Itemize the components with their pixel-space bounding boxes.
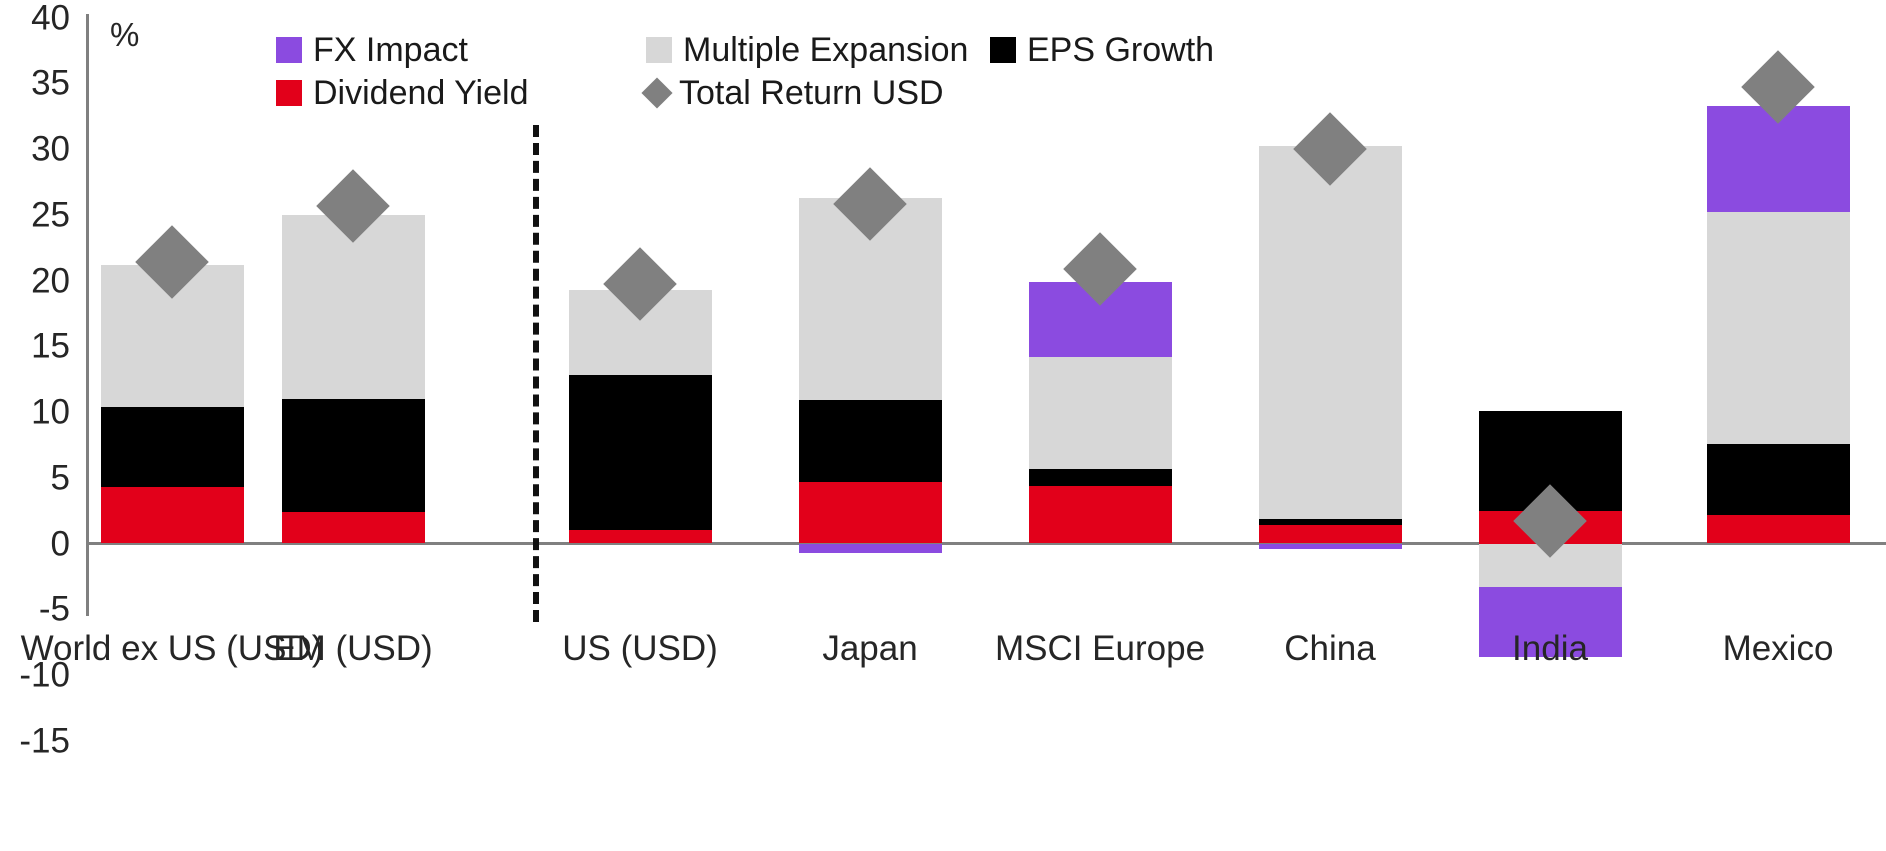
bar-segment-dividend-yield xyxy=(1029,486,1172,544)
bar-group-china[interactable]: China xyxy=(1259,0,1402,851)
bar-group-japan[interactable]: Japan xyxy=(799,0,942,851)
bar-segment-fx-impact xyxy=(799,544,942,553)
bar-segment-eps-growth xyxy=(1707,444,1850,515)
bar-group-mexico[interactable]: Mexico xyxy=(1707,0,1850,851)
x-axis-category-label: EM (USD) xyxy=(193,628,513,669)
x-axis-category-label: Mexico xyxy=(1618,628,1886,669)
bar-segment-eps-growth xyxy=(1029,469,1172,486)
stacked-bar-chart: 4035302520151050-5-10-15 % FX ImpactMult… xyxy=(0,0,1886,851)
bar-group-world-ex-us-usd[interactable]: World ex US (USD) xyxy=(101,0,244,851)
bar-segment-multiple-expansion xyxy=(1707,212,1850,443)
bar-group-india[interactable]: India xyxy=(1479,0,1622,851)
bar-segment-eps-growth xyxy=(101,407,244,487)
bar-segment-fx-impact xyxy=(1259,544,1402,549)
bar-segment-multiple-expansion xyxy=(1259,146,1402,518)
bar-group-msci-europe[interactable]: MSCI Europe xyxy=(1029,0,1172,851)
bar-segment-dividend-yield xyxy=(799,482,942,544)
bar-segment-eps-growth xyxy=(282,399,425,512)
bar-segment-dividend-yield xyxy=(1707,515,1850,544)
bar-segment-dividend-yield xyxy=(101,487,244,544)
bar-group-us-usd[interactable]: US (USD) xyxy=(569,0,712,851)
bar-segment-eps-growth xyxy=(799,400,942,482)
plot-area: World ex US (USD)EM (USD)US (USD)JapanMS… xyxy=(0,0,1886,851)
bar-segment-multiple-expansion xyxy=(1029,357,1172,469)
bar-segment-eps-growth xyxy=(1259,519,1402,526)
bar-group-em-usd[interactable]: EM (USD) xyxy=(282,0,425,851)
bar-segment-dividend-yield xyxy=(282,512,425,544)
bar-segment-dividend-yield xyxy=(569,530,712,543)
bar-segment-eps-growth xyxy=(569,375,712,530)
bar-segment-dividend-yield xyxy=(1259,525,1402,543)
